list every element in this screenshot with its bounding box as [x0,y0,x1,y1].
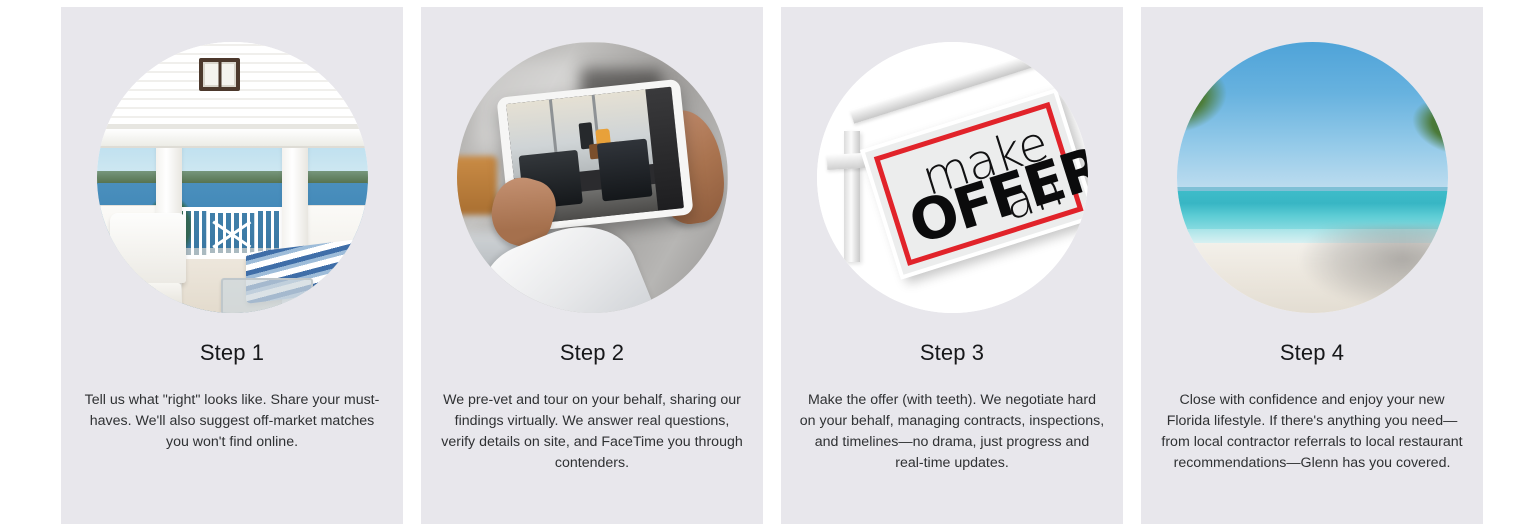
porch-railing-diamond [206,210,257,256]
palm-shadow [1301,226,1442,307]
step-2-body: We pre-vet and tour on your behalf, shar… [439,390,745,474]
step-4-title: Step 4 [1280,340,1344,366]
step-card-3[interactable]: make an OFFER! Step 3 Make the offer (wi… [781,7,1123,524]
step-2-image [457,42,728,313]
waterfront-porch-photo [97,42,368,313]
step-4-body: Close with confidence and enjoy your new… [1159,390,1465,474]
step-2-title: Step 2 [560,340,624,366]
step-4-image [1177,42,1448,313]
steps-row: Step 1 Tell us what "right" looks like. … [61,7,1475,524]
step-1-image [97,42,368,313]
porch-ceiling-lamp-icon [199,58,240,91]
step-3-body: Make the offer (with teeth). We negotiat… [799,390,1105,474]
how-it-works-section: Step 1 Tell us what "right" looks like. … [0,0,1537,532]
porch-armchair [110,213,186,283]
step-card-4[interactable]: Step 4 Close with confidence and enjoy y… [1141,7,1483,524]
florida-beach-photo [1177,42,1448,313]
step-1-title: Step 1 [200,340,264,366]
step-1-body: Tell us what "right" looks like. Share y… [79,390,385,453]
tablet-virtual-tour-photo [457,42,728,313]
porch-beam [97,129,368,148]
make-an-offer-sign-graphic: make an OFFER! [817,42,1088,313]
step-card-1[interactable]: Step 1 Tell us what "right" looks like. … [61,7,403,524]
step-3-title: Step 3 [920,340,984,366]
step-card-2[interactable]: Step 2 We pre-vet and tour on your behal… [421,7,763,524]
screen-sofa-right [597,138,653,201]
porch-glass-table [221,278,313,313]
sign-post [844,131,860,261]
step-3-image: make an OFFER! [817,42,1088,313]
tablet-background-wood-chair [457,156,498,216]
